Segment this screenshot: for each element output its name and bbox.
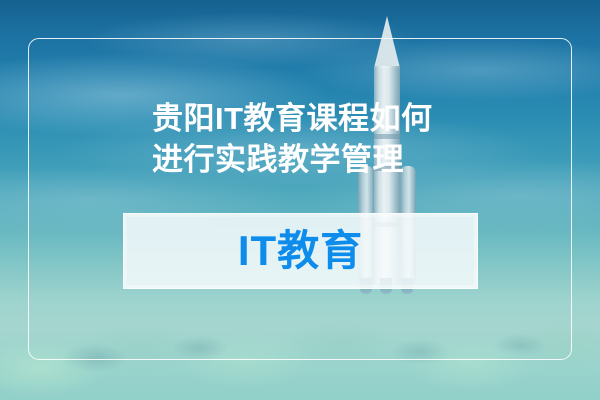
keyword-banner: IT教育 xyxy=(123,213,478,289)
keyword-label: IT教育 xyxy=(238,230,363,272)
poster-root: 贵阳IT教育课程如何 进行实践教学管理 IT教育 xyxy=(0,0,600,400)
smoke-wisp-layer xyxy=(0,330,600,400)
page-title: 贵阳IT教育课程如何 进行实践教学管理 xyxy=(152,98,482,180)
rocket-nose-cone xyxy=(374,16,400,68)
